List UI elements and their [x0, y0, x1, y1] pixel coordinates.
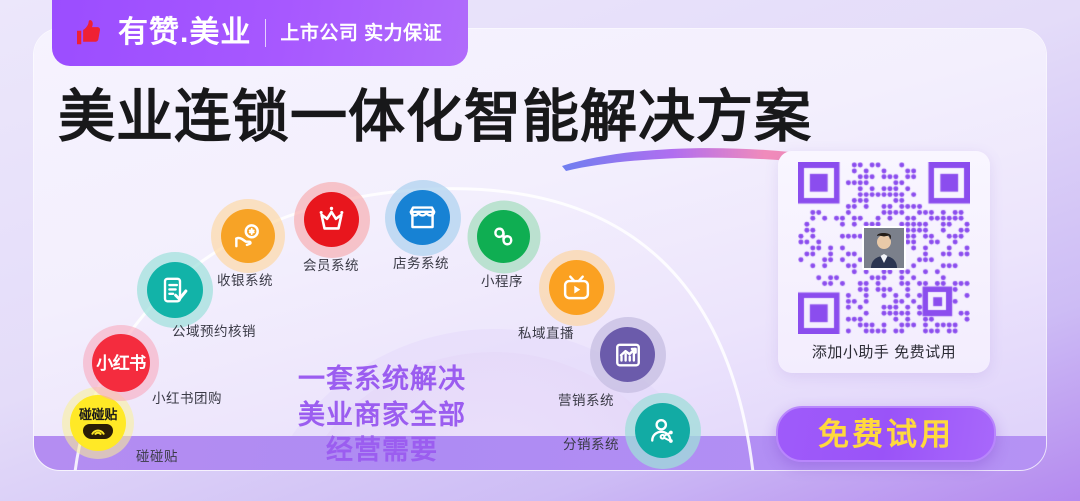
mini-program-icon: [489, 222, 518, 251]
xiaohongshu-icon: 小红书: [96, 355, 146, 372]
brand-name: 有赞.美业: [118, 18, 251, 48]
feature-label-nfc-tag: 碰碰贴: [136, 445, 178, 465]
feature-node-store-ops[interactable]: 店务系统: [395, 190, 450, 245]
slogan-line-2: 美业商家全部: [282, 398, 482, 434]
brand-badge: 有赞.美业 上市公司 实力保证: [52, 0, 468, 66]
storefront-icon: [407, 202, 438, 233]
page-title: 美业连锁一体化智能解决方案: [58, 88, 812, 148]
free-trial-label: 免费试用: [818, 419, 954, 450]
avatar-photo-icon: [864, 228, 904, 268]
qr-panel[interactable]: 添加小助手 免费试用: [778, 151, 990, 373]
feature-node-distribution[interactable]: 分销系统: [635, 403, 690, 458]
free-trial-button[interactable]: 免费试用: [776, 406, 996, 462]
feature-label-xiaohongshu: 小红书团购: [152, 387, 222, 407]
hand-coin-icon: [233, 221, 264, 252]
feature-node-marketing[interactable]: 营销系统: [600, 327, 655, 382]
brand-tagline: 上市公司 实力保证: [280, 24, 442, 43]
crown-icon: [316, 204, 347, 235]
feature-label-store-ops: 店务系统: [393, 252, 449, 272]
wave-glyph: [90, 427, 106, 436]
thumbs-up-icon: [74, 18, 104, 48]
avatar: [862, 226, 906, 270]
feature-node-live-stream[interactable]: 私域直播: [549, 260, 604, 315]
feature-node-cashier[interactable]: 收银系统: [221, 209, 275, 263]
feature-label-marketing: 营销系统: [558, 389, 614, 409]
slogan-line-3: 经营需要: [282, 433, 482, 469]
feature-label-booking-verify: 公域预约核销: [172, 320, 256, 340]
feature-node-nfc-tag[interactable]: 碰碰贴 碰碰贴: [70, 395, 126, 451]
promo-banner: 有赞.美业 上市公司 实力保证 美业连锁一体化智能解决方案 碰碰贴: [0, 0, 1080, 501]
feature-node-xiaohongshu[interactable]: 小红书 小红书团购: [92, 334, 150, 392]
user-share-icon: [648, 416, 678, 446]
hero-title-wrap: 美业连锁一体化智能解决方案: [58, 88, 812, 148]
feature-label-cashier: 收银系统: [217, 269, 273, 289]
qr-code[interactable]: [798, 162, 970, 334]
growth-chart-icon: [613, 340, 643, 370]
feature-node-mini-program[interactable]: 小程序: [477, 210, 530, 263]
qr-caption: 添加小助手 免费试用: [812, 341, 956, 362]
badge-divider: [265, 19, 266, 47]
feature-label-live-stream: 私域直播: [518, 322, 574, 342]
slogan-line-1: 一套系统解决: [282, 362, 482, 398]
feature-node-booking-verify[interactable]: 公域预约核销: [147, 262, 203, 318]
slogan-block: 一套系统解决 美业商家全部 经营需要: [282, 362, 482, 469]
feature-node-membership[interactable]: 会员系统: [304, 192, 359, 247]
live-video-icon: [561, 272, 592, 303]
feature-label-membership: 会员系统: [303, 254, 359, 274]
nfc-tag-icon: 碰碰贴: [79, 408, 117, 439]
feature-label-mini-program: 小程序: [481, 270, 523, 290]
feature-label-distribution: 分销系统: [563, 433, 619, 453]
document-check-icon: [160, 275, 190, 305]
